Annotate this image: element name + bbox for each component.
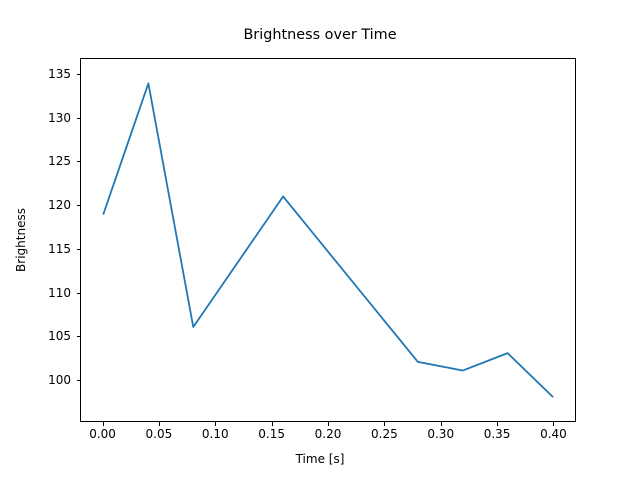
x-axis-tick-mark <box>272 422 273 426</box>
y-axis-tick-label: 115 <box>11 242 71 256</box>
x-axis-label: Time [s] <box>0 452 640 466</box>
matplotlib-figure: Brightness over Time Brightness Time [s]… <box>0 0 640 480</box>
y-axis-tick-mark <box>77 74 81 75</box>
y-axis-tick-mark <box>77 249 81 250</box>
y-axis-tick-label: 130 <box>11 111 71 125</box>
y-axis-tick-label: 100 <box>11 373 71 387</box>
y-axis-tick-mark <box>77 161 81 162</box>
y-axis-label: Brightness <box>14 208 28 272</box>
y-axis-tick-label: 110 <box>11 286 71 300</box>
y-axis-tick-label: 135 <box>11 67 71 81</box>
y-axis-tick-mark <box>77 118 81 119</box>
x-axis-tick-mark <box>441 422 442 426</box>
y-axis-tick-mark <box>77 205 81 206</box>
plot-axes <box>80 58 576 422</box>
line-plot-svg <box>81 59 575 421</box>
x-axis-tick-mark <box>384 422 385 426</box>
y-axis-tick-mark <box>77 336 81 337</box>
x-axis-tick-mark <box>553 422 554 426</box>
y-axis-tick-mark <box>77 293 81 294</box>
x-axis-tick-mark <box>497 422 498 426</box>
x-axis-tick-mark <box>103 422 104 426</box>
x-axis-tick-label: 0.40 <box>513 427 593 441</box>
y-axis-tick-mark <box>77 380 81 381</box>
data-series-line <box>103 83 552 396</box>
x-axis-tick-mark <box>328 422 329 426</box>
y-axis-tick-label: 105 <box>11 329 71 343</box>
x-axis-tick-mark <box>159 422 160 426</box>
chart-title: Brightness over Time <box>0 27 640 43</box>
y-axis-tick-label: 120 <box>11 198 71 212</box>
y-axis-tick-label: 125 <box>11 154 71 168</box>
x-axis-tick-mark <box>215 422 216 426</box>
